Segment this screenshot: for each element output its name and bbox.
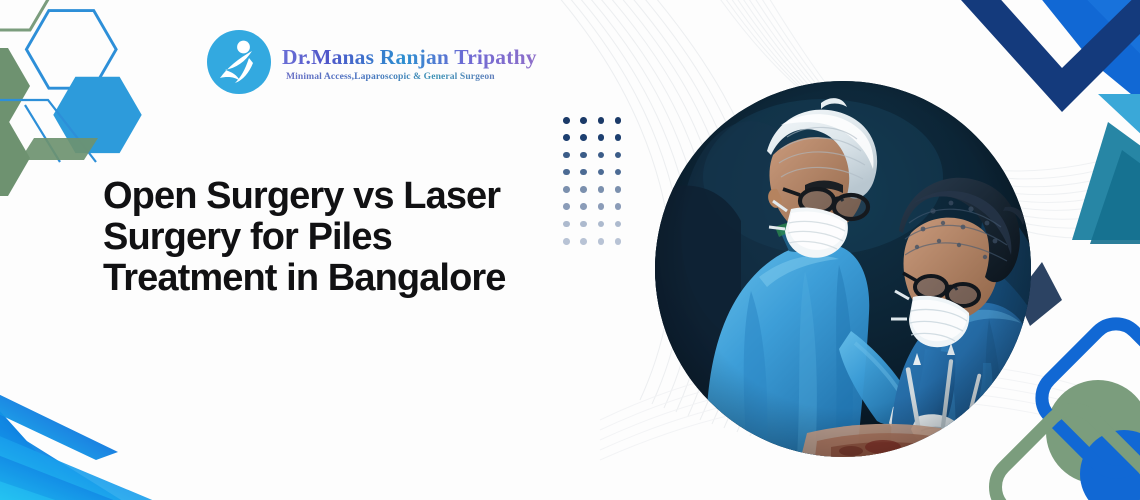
grid-dot bbox=[563, 169, 570, 176]
grid-dot bbox=[615, 134, 622, 141]
grid-dot bbox=[580, 221, 587, 228]
grid-dot bbox=[598, 152, 605, 159]
grid-dot bbox=[598, 238, 605, 245]
grid-dot bbox=[598, 186, 605, 193]
hexagon-outline-green-fragment bbox=[0, 0, 50, 30]
grid-dot bbox=[615, 117, 622, 124]
grid-dot bbox=[563, 134, 570, 141]
logo-title: Dr.Manas Ranjan Tripathy bbox=[282, 46, 537, 69]
grid-dot bbox=[580, 134, 587, 141]
grid-dot bbox=[598, 203, 605, 210]
logo-subtitle: Minimal Access,Laparoscopic & General Su… bbox=[282, 71, 537, 82]
grid-dot bbox=[615, 203, 622, 210]
grid-dot bbox=[615, 221, 622, 228]
hexagon-filled-green bbox=[0, 48, 30, 124]
grid-dot bbox=[580, 117, 587, 124]
hexagon-outline-blue bbox=[26, 11, 116, 89]
site-logo[interactable]: Dr.Manas Ranjan Tripathy Minimal Access,… bbox=[205, 28, 537, 96]
grid-dot bbox=[580, 203, 587, 210]
grid-dot bbox=[615, 169, 622, 176]
logo-text-block: Dr.Manas Ranjan Tripathy Minimal Access,… bbox=[282, 42, 537, 82]
dot-grid-decoration bbox=[563, 117, 632, 255]
person-figure-circle-logo-icon bbox=[205, 28, 273, 96]
grid-dot bbox=[580, 186, 587, 193]
page-title: Open Surgery vs Laser Surgery for Piles … bbox=[103, 176, 573, 300]
grid-dot bbox=[563, 152, 570, 159]
grid-dot bbox=[598, 169, 605, 176]
grid-dot bbox=[615, 152, 622, 159]
grid-dot bbox=[598, 221, 605, 228]
surgeons-operating-photo bbox=[655, 81, 1031, 457]
grid-dot bbox=[615, 186, 622, 193]
grid-dot bbox=[563, 117, 570, 124]
grid-dot bbox=[580, 238, 587, 245]
trapezoid-green bbox=[20, 138, 98, 160]
grid-dot bbox=[580, 152, 587, 159]
grid-dot bbox=[598, 117, 605, 124]
grid-dot bbox=[615, 238, 622, 245]
grid-dot bbox=[580, 169, 587, 176]
page-banner: Dr.Manas Ranjan Tripathy Minimal Access,… bbox=[0, 0, 1140, 500]
grid-dot bbox=[598, 134, 605, 141]
